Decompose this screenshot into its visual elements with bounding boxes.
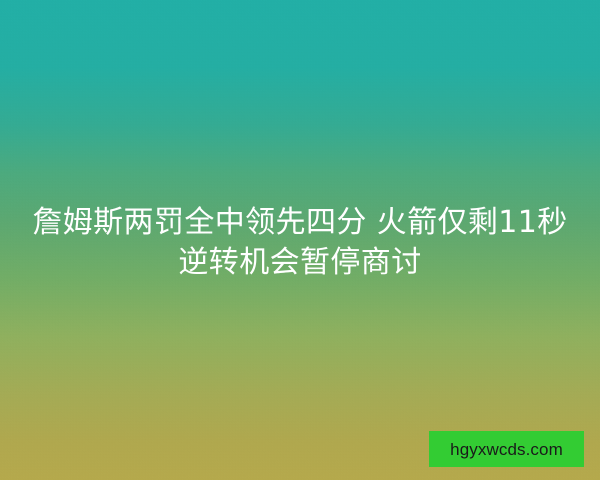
site-watermark-label: hgyxwcds.com	[450, 441, 563, 458]
headline-line-2: 逆转机会暂停商讨	[178, 245, 421, 280]
headline-line-1: 詹姆斯两罚全中领先四分 火箭仅剩11秒	[32, 205, 567, 240]
thumbnail-canvas: 詹姆斯两罚全中领先四分 火箭仅剩11秒逆转机会暂停商讨 hgyxwcds.com	[0, 0, 600, 480]
site-watermark-badge[interactable]: hgyxwcds.com	[429, 431, 584, 467]
headline-text: 詹姆斯两罚全中领先四分 火箭仅剩11秒逆转机会暂停商讨	[0, 203, 600, 283]
